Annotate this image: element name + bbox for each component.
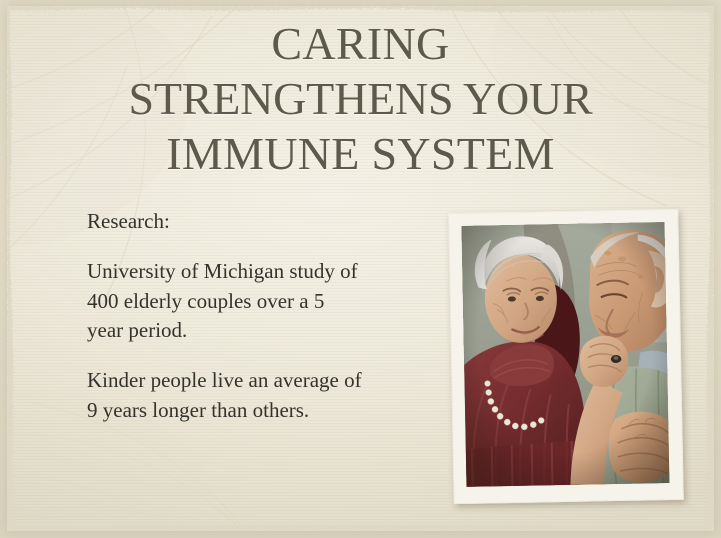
slide-canvas: CARING STRENGTHENS YOUR IMMUNE SYSTEM Re… bbox=[0, 0, 721, 538]
slide-title: CARING STRENGTHENS YOUR IMMUNE SYSTEM bbox=[0, 16, 721, 182]
photo-frame bbox=[448, 209, 684, 504]
body-paragraph-finding: Kinder people live an average of 9 years… bbox=[87, 366, 365, 426]
photo-image bbox=[461, 222, 669, 487]
slide-body-text: Research: University of Michigan study o… bbox=[87, 207, 365, 426]
title-line-1: CARING bbox=[0, 16, 721, 71]
body-paragraph-study: University of Michigan study of 400 elde… bbox=[87, 257, 365, 346]
title-line-3: IMMUNE SYSTEM bbox=[0, 126, 721, 181]
body-paragraph-research-label: Research: bbox=[87, 207, 365, 237]
elderly-couple-photo-illustration bbox=[461, 222, 669, 487]
title-line-2: STRENGTHENS YOUR bbox=[0, 71, 721, 126]
